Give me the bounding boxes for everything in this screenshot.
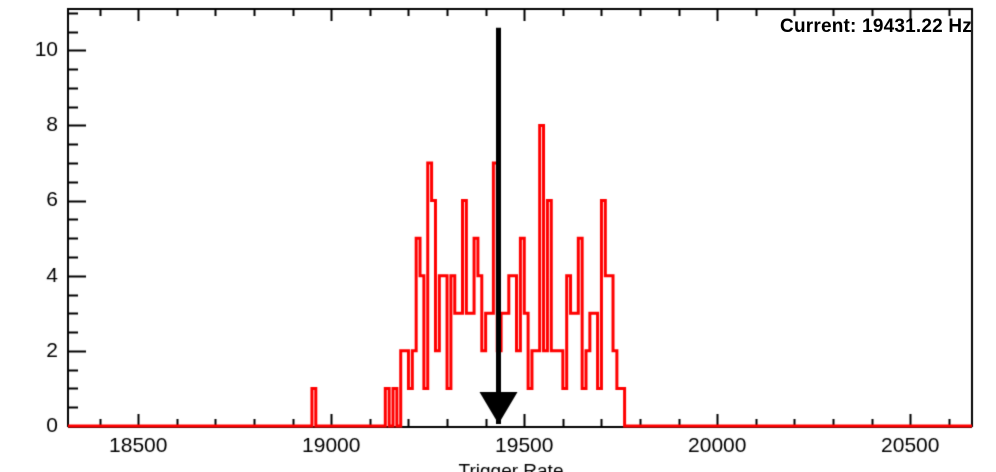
histogram-canvas[interactable]: [0, 0, 996, 472]
current-rate-readout: Current: 19431.22 Hz: [780, 16, 972, 38]
trigger-rate-plot: Current: 19431.22 Hz: [0, 0, 996, 472]
